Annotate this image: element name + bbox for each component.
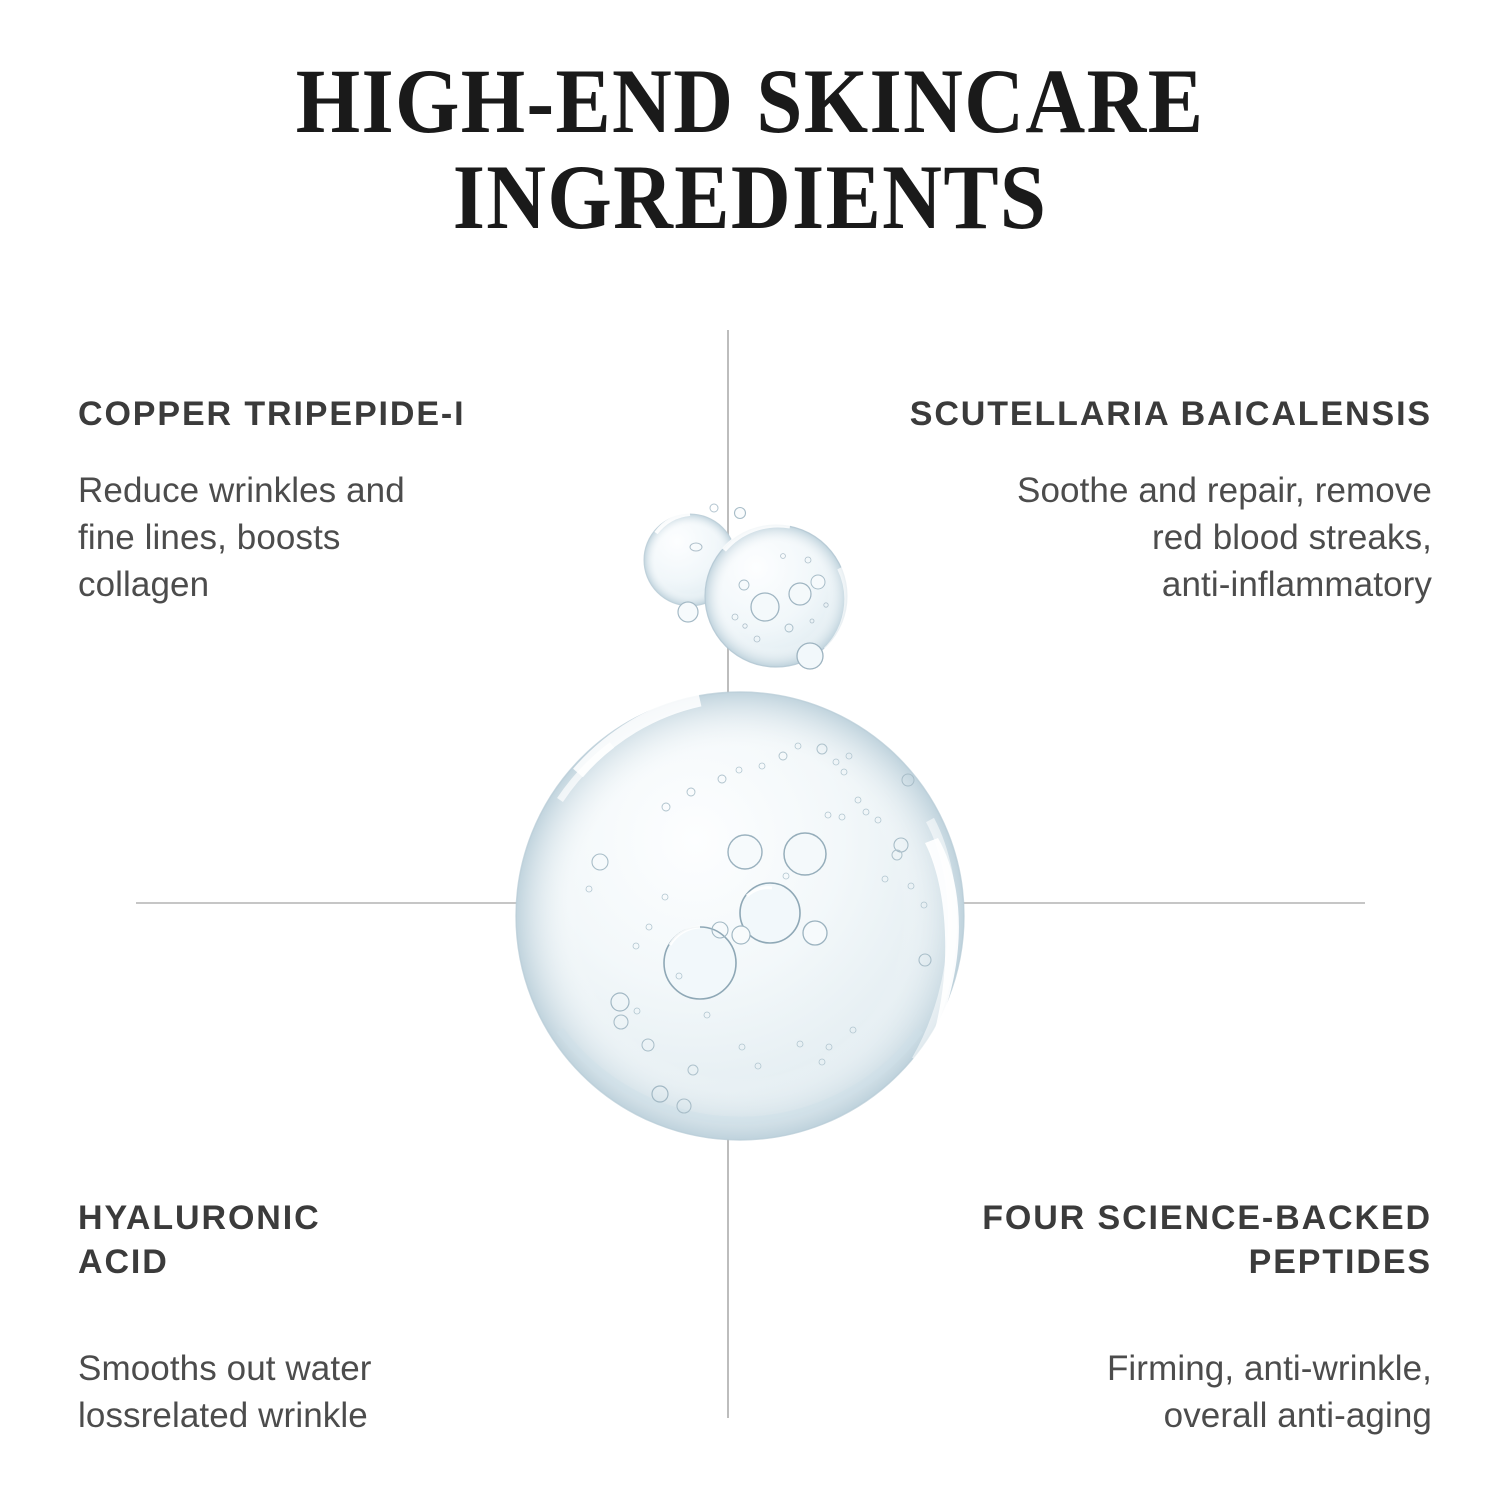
ingredient-heading-hyaluronic-acid: HYALURONIC ACID (78, 1196, 548, 1284)
ingredient-description-copper-tripepide: Reduce wrinkles and fine lines, boosts c… (78, 468, 548, 609)
infographic-poster: HIGH-END SKINCARE INGREDIENTS (0, 0, 1500, 1500)
ingredient-heading-four-science-backed-peptides: FOUR SCIENCE-BACKED PEPTIDES (872, 1196, 1432, 1284)
horizontal-divider (136, 902, 1365, 904)
quadrant-top-left: COPPER TRIPEPIDE-I Reduce wrinkles and f… (78, 392, 548, 609)
quadrant-top-right: SCUTELLARIA BAICALENSIS Soothe and repai… (832, 392, 1432, 609)
vertical-divider (727, 330, 729, 1418)
bubble-satellites (678, 504, 823, 669)
page-title: HIGH-END SKINCARE INGREDIENTS (75, 54, 1425, 245)
ingredient-heading-scutellaria-baicalensis: SCUTELLARIA BAICALENSIS (832, 392, 1432, 436)
quadrant-bottom-left: HYALURONIC ACID Smooths out water lossre… (78, 1196, 548, 1440)
ingredient-description-scutellaria-baicalensis: Soothe and repair, remove red blood stre… (832, 468, 1432, 609)
ingredient-description-four-science-backed-peptides: Firming, anti-wrinkle, overall anti-agin… (872, 1346, 1432, 1440)
ingredient-heading-copper-tripepide: COPPER TRIPEPIDE-I (78, 392, 548, 436)
quadrant-bottom-right: FOUR SCIENCE-BACKED PEPTIDES Firming, an… (872, 1196, 1432, 1440)
ingredient-description-hyaluronic-acid: Smooths out water lossrelated wrinkle (78, 1346, 548, 1440)
main-droplet (516, 692, 964, 1140)
bubble-small-upper-left (644, 514, 736, 606)
